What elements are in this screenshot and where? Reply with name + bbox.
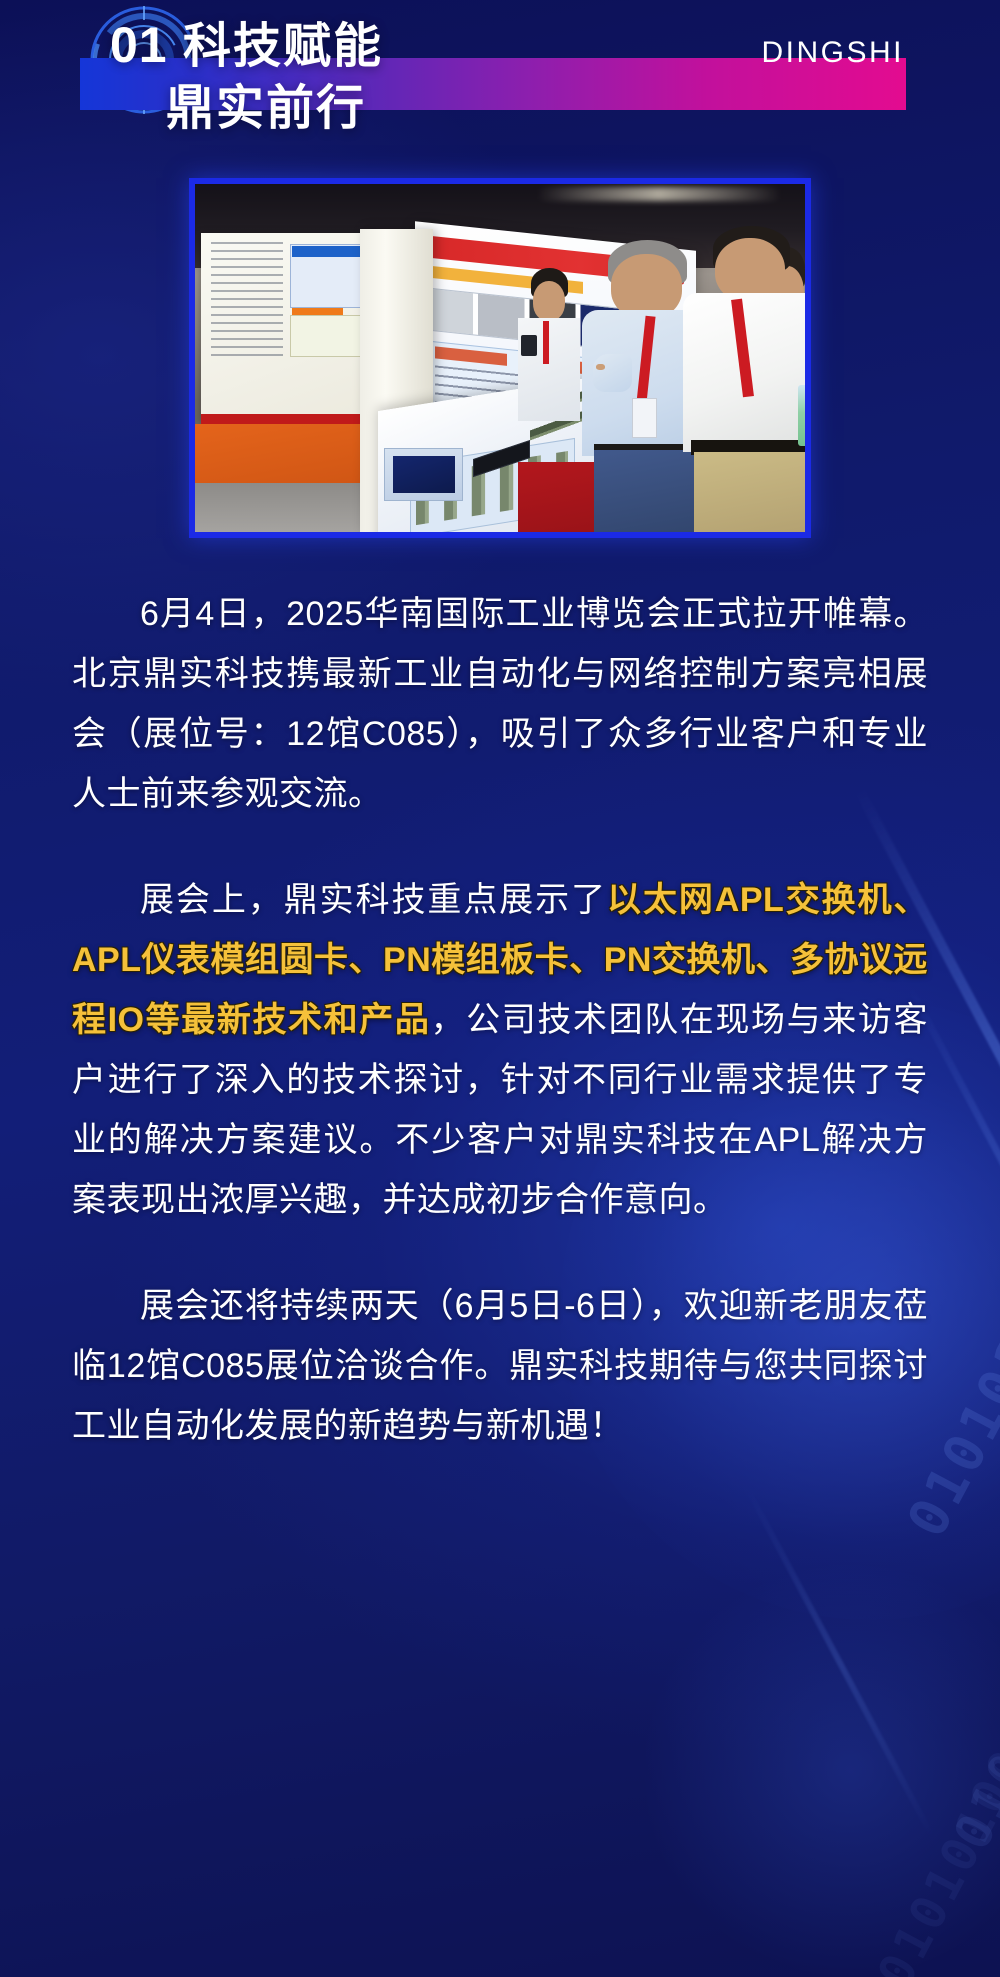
photo-water-bottle xyxy=(798,385,811,446)
photo-person-badge xyxy=(632,398,657,439)
photo-left-poster-accent xyxy=(292,308,343,316)
photo-left-poster-board xyxy=(201,233,372,421)
photo-orange-panel xyxy=(195,424,360,490)
photo-person-arm xyxy=(593,354,633,392)
exhibition-booth-photo xyxy=(189,178,811,538)
page-title-line-1: 01 科技赋能 xyxy=(110,14,383,78)
paragraph-2: 展会上，鼎实科技重点展示了以太网APL交换机、APL仪表模组圆卡、PN模组板卡、… xyxy=(72,870,928,1230)
poster-page: 01010101001010110100101 0101010100101011… xyxy=(0,0,1000,1977)
photo-person-head xyxy=(611,254,681,318)
photo-left-poster-text xyxy=(211,242,283,359)
page-title-text-1: 科技赋能 xyxy=(183,20,383,73)
photo-brochure-stand xyxy=(384,448,463,500)
paragraph-3: 展会还将持续两天（6月5日-6日），欢迎新老朋友莅临12馆C085展位洽谈合作。… xyxy=(72,1276,928,1456)
photo-left-poster-box2 xyxy=(290,315,365,356)
page-title-line-2: 鼎实前行 xyxy=(166,78,383,140)
photo-left-poster-header xyxy=(292,246,364,257)
photo-person-phone xyxy=(521,335,537,356)
photo-person-head xyxy=(533,281,565,321)
photo-col-heading xyxy=(434,347,507,366)
section-number: 01 xyxy=(110,17,168,73)
photo-red-strip xyxy=(201,414,372,424)
article-body: 6月4日，2025华南国际工业博览会正式拉开帷幕。北京鼎实科技携最新工业自动化与… xyxy=(0,538,1000,1512)
photo-person-trousers xyxy=(694,452,807,532)
photo-person-body xyxy=(518,318,579,421)
photo-scene xyxy=(195,184,805,532)
header-title-group: 01 科技赋能 鼎实前行 xyxy=(110,14,383,140)
photo-person-hand xyxy=(596,364,605,370)
poster-header: 01 科技赋能 鼎实前行 DINGSHI xyxy=(0,0,1000,160)
paragraph-1: 6月4日，2025华南国际工业博览会正式拉开帷幕。北京鼎实科技携最新工业自动化与… xyxy=(72,584,928,824)
photo-visitor-white-shirt xyxy=(683,226,811,532)
glow-blob-lower xyxy=(640,1560,1000,1977)
paragraph-2-intro: 展会上，鼎实科技重点展示了 xyxy=(140,881,607,919)
photo-ceiling-lights xyxy=(537,187,781,201)
light-beam-3 xyxy=(743,1485,936,1841)
photo-brochure-cover xyxy=(393,456,455,492)
photo-person-lanyard xyxy=(543,321,549,364)
brand-name: DINGSHI xyxy=(761,36,904,70)
